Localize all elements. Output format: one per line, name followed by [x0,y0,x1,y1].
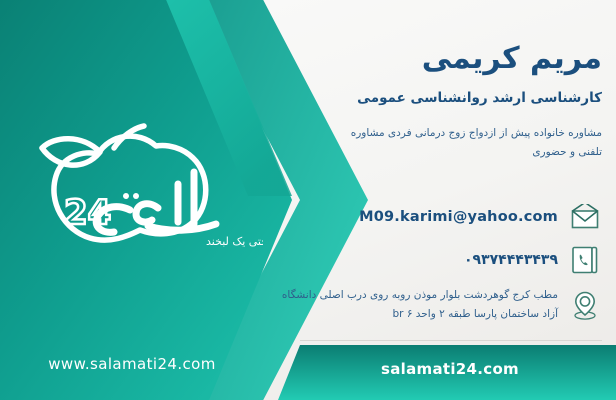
company-logo: 24 به راحتی یک لبخند www.salamati24.com [18,112,263,272]
services-line-2: تلفنی و حضوری [272,143,602,162]
address-value: مطب کرج گوهردشت بلوار موذن روبه روی درب … [272,286,558,324]
contact-row-address[interactable]: مطب کرج گوهردشت بلوار موذن روبه روی درب … [272,286,602,324]
job-title: کارشناسی ارشد روانشناسی عمومی [272,90,602,106]
services-description: مشاوره خانواده پیش از ازدواج زوج درمانی … [272,124,602,163]
logo-wordmark-fa [96,172,216,232]
phone-book-icon [568,243,602,277]
phone-value: ۰۹۳۷۴۴۴۳۴۳۹ [272,252,558,268]
envelope-icon [568,200,602,234]
logo-tagline: به راحتی یک لبخند [206,235,263,248]
email-value: M09.karimi@yahoo.com [272,209,558,225]
address-line-2: آزاد ساختمان پارسا طبقه ۲ واحد ۶ br [392,308,558,320]
location-pin-icon [568,288,602,322]
business-card: 24 به راحتی یک لبخند www.salamati24.com … [0,0,616,400]
footer-website[interactable]: salamati24.com [300,360,600,378]
person-name: مریم کریمی [272,44,602,74]
contact-row-phone[interactable]: ۰۹۳۷۴۴۴۳۴۳۹ [272,243,602,277]
logo-mark: 24 به راحتی یک لبخند [18,112,263,252]
contact-row-email[interactable]: M09.karimi@yahoo.com [272,200,602,234]
address-line-1: مطب کرج گوهردشت بلوار موذن روبه روی درب … [282,289,558,301]
footer-bar: salamati24.com [0,338,616,400]
svg-text:24: 24 [64,193,111,233]
services-line-1: مشاوره خانواده پیش از ازدواج زوج درمانی … [272,124,602,143]
logo-number-24: 24 [64,193,111,233]
contact-list: M09.karimi@yahoo.com ۰۹۳۷۴۴۴۳۴۳۹ [272,200,602,333]
